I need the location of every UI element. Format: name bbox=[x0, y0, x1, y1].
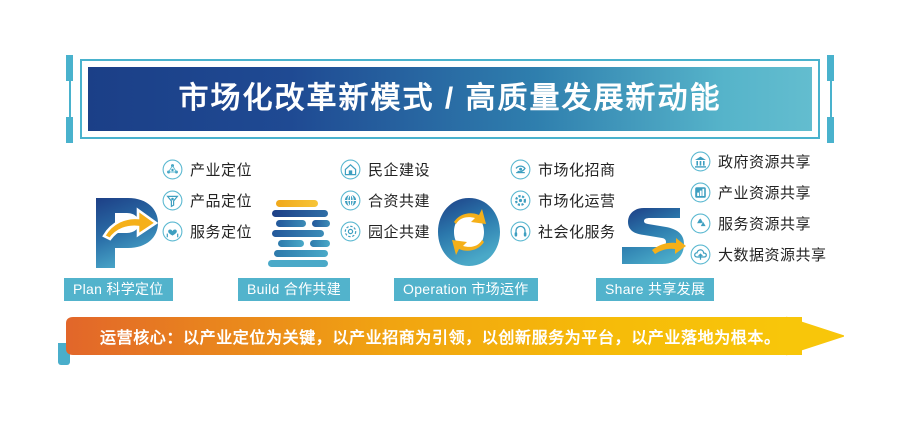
list-item: 政府资源共享 bbox=[690, 148, 827, 174]
chip-plan[interactable]: Plan 科学定位 bbox=[64, 278, 173, 301]
list-item-label: 政府资源共享 bbox=[718, 151, 811, 172]
list-item: 民企建设 bbox=[340, 156, 430, 182]
bracket-stem bbox=[830, 81, 832, 117]
core-banner: 运营核心：以产业定位为关键，以产业招商为引领，以创新服务为平台，以产业落地为根本… bbox=[58, 316, 844, 356]
bracket-cap-bottom bbox=[827, 117, 834, 143]
bracket-cap-bottom bbox=[66, 117, 73, 143]
bullet-list-plan: 产业定位 产品定位 bbox=[162, 156, 252, 244]
list-item: 产业定位 bbox=[162, 156, 252, 182]
bullet-list-build: 民企建设 合资共建 bbox=[340, 156, 430, 244]
gear-settings-icon bbox=[510, 190, 531, 211]
bullet-list-share: 政府资源共享 产业资源共享 bbox=[690, 148, 827, 267]
list-item: 服务定位 bbox=[162, 218, 252, 244]
bracket-stem bbox=[69, 81, 71, 117]
list-item-label: 市场化运营 bbox=[538, 190, 616, 211]
core-banner-text: 运营核心：以产业定位为关键，以产业招商为引领，以创新服务为平台，以产业落地为根本… bbox=[100, 316, 781, 356]
chip-build[interactable]: Build 合作共建 bbox=[238, 278, 350, 301]
bracket-cap-top bbox=[66, 55, 73, 81]
list-item-label: 服务资源共享 bbox=[718, 213, 811, 234]
chip-operation[interactable]: Operation 市场运作 bbox=[394, 278, 538, 301]
list-item: 大数据资源共享 bbox=[690, 241, 827, 267]
headset-service-icon bbox=[510, 221, 531, 242]
list-item-label: 社会化服务 bbox=[538, 221, 616, 242]
government-bank-icon bbox=[690, 151, 711, 172]
cloud-upload-icon bbox=[690, 244, 711, 265]
bullet-list-operation: 市场化招商 市场化运营 bbox=[510, 156, 616, 244]
list-item: 产业资源共享 bbox=[690, 179, 827, 205]
o-cycle-logo bbox=[430, 192, 508, 272]
globe-grid-icon bbox=[340, 190, 361, 211]
b-bars-logo bbox=[262, 192, 340, 272]
list-item: 合资共建 bbox=[340, 187, 430, 213]
funnel-sprout-icon bbox=[162, 190, 183, 211]
title-gradient-bar: 市场化改革新模式 / 高质量发展新动能 bbox=[88, 67, 812, 131]
gear-circle-icon bbox=[340, 221, 361, 242]
network-nodes-icon bbox=[162, 159, 183, 180]
bracket-cap-top bbox=[827, 55, 834, 81]
list-item-label: 市场化招商 bbox=[538, 159, 616, 180]
handshake-deal-icon bbox=[510, 159, 531, 180]
title-banner: 市场化改革新模式 / 高质量发展新动能 bbox=[66, 55, 834, 143]
right-bracket-decoration bbox=[827, 55, 834, 143]
list-item: 市场化招商 bbox=[510, 156, 616, 182]
list-item-label: 产业资源共享 bbox=[718, 182, 811, 203]
list-item: 社会化服务 bbox=[510, 218, 616, 244]
page-title: 市场化改革新模式 / 高质量发展新动能 bbox=[178, 84, 721, 114]
left-bracket-decoration bbox=[66, 55, 73, 143]
list-item-label: 大数据资源共享 bbox=[718, 244, 827, 265]
recycle-icon bbox=[690, 213, 711, 234]
hands-heart-icon bbox=[162, 221, 183, 242]
bar-chart-icon bbox=[690, 182, 711, 203]
pillar-chips-row: Plan 科学定位 Build 合作共建 Operation 市场运作 Shar… bbox=[0, 278, 900, 302]
s-arrow-logo bbox=[614, 192, 692, 272]
list-item: 园企共建 bbox=[340, 218, 430, 244]
list-item: 服务资源共享 bbox=[690, 210, 827, 236]
list-item: 市场化运营 bbox=[510, 187, 616, 213]
p-arrow-logo bbox=[86, 192, 164, 272]
chip-share[interactable]: Share 共享发展 bbox=[596, 278, 714, 301]
home-building-icon bbox=[340, 159, 361, 180]
list-item: 产品定位 bbox=[162, 187, 252, 213]
